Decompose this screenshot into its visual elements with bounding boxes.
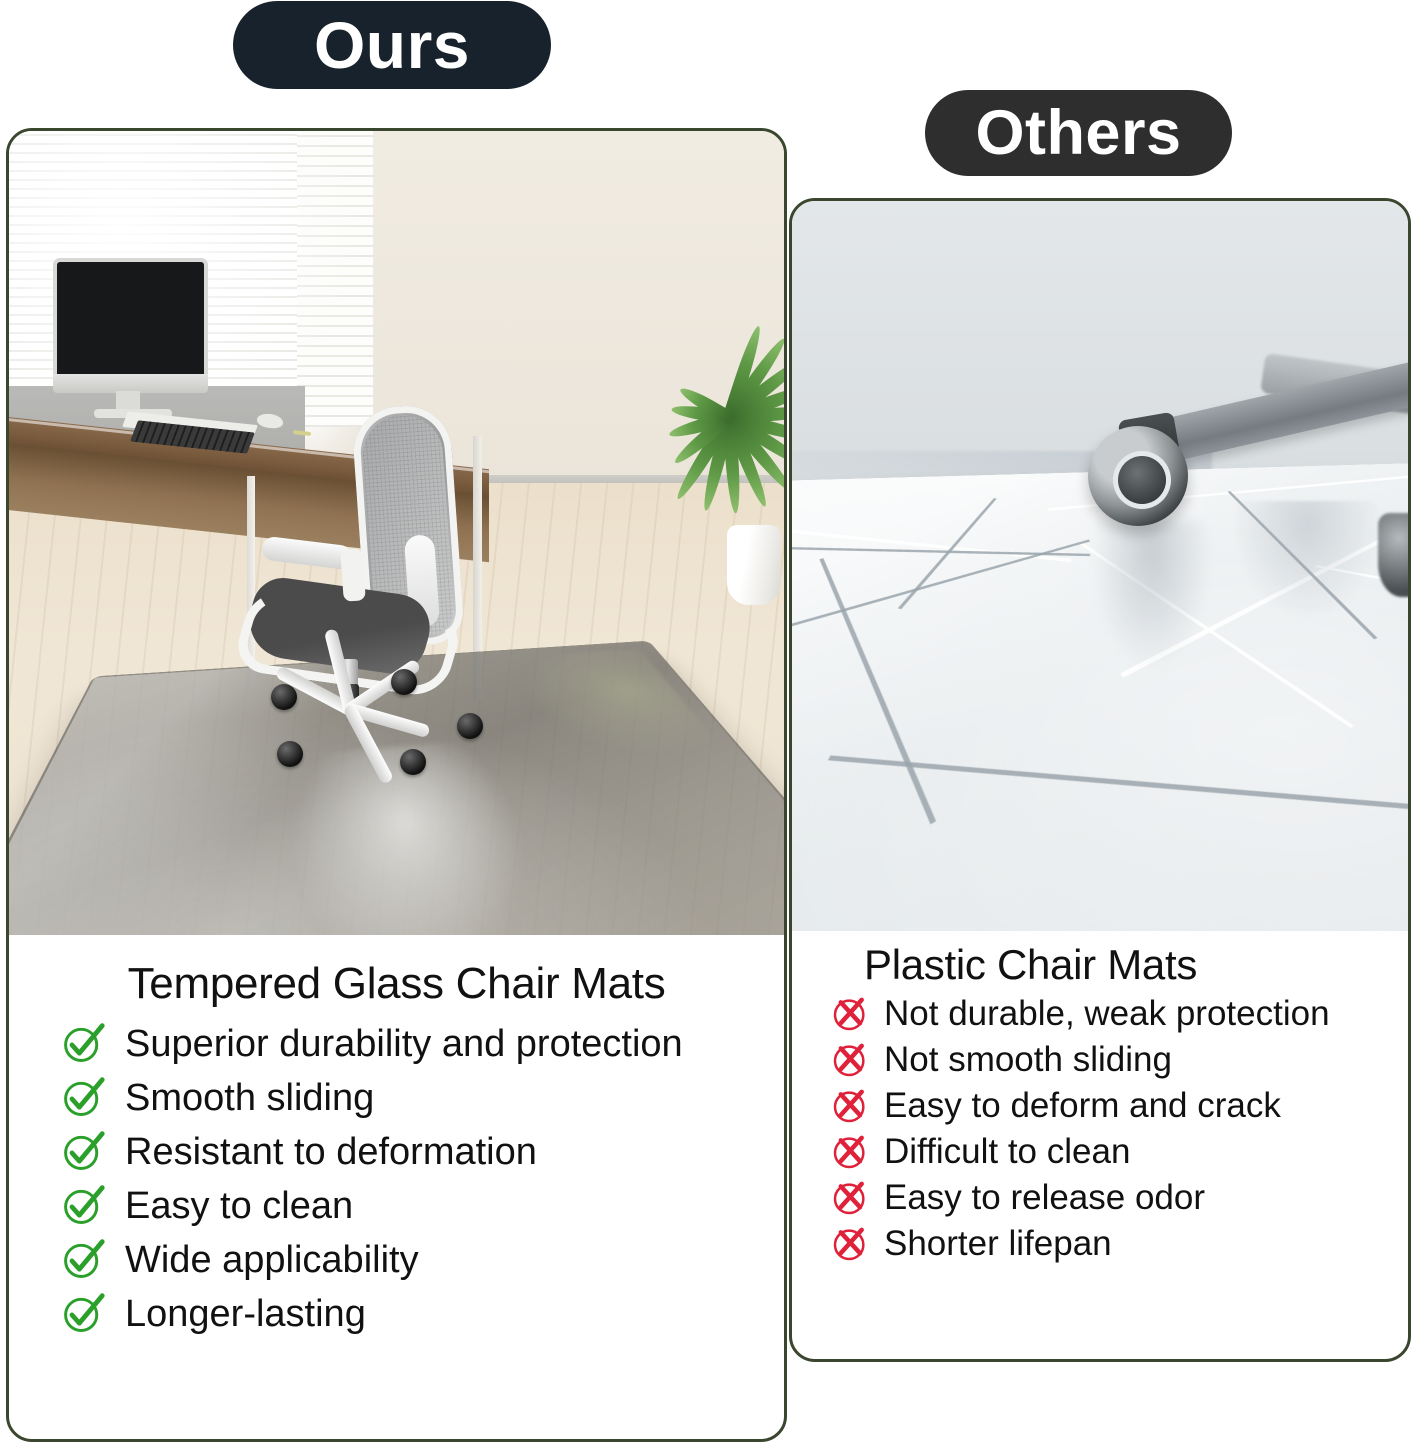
photo-tempered-glass-mat bbox=[9, 131, 784, 935]
check-circle-icon bbox=[61, 1292, 105, 1336]
x-circle-icon bbox=[830, 1178, 870, 1218]
list-item: Not smooth sliding bbox=[792, 1037, 1408, 1083]
check-circle-icon bbox=[61, 1184, 105, 1228]
badge-ours: Ours bbox=[233, 1, 551, 89]
list-item: Not durable, weak protection bbox=[792, 991, 1408, 1037]
list-item-label: Easy to clean bbox=[125, 1185, 353, 1228]
others-text-block: Plastic Chair Mats Not durable, weak pro… bbox=[792, 931, 1408, 1267]
list-item: Easy to release odor bbox=[792, 1175, 1408, 1221]
list-item: Smooth sliding bbox=[9, 1071, 784, 1125]
x-circle-icon bbox=[830, 1132, 870, 1172]
list-item: Wide applicability bbox=[9, 1233, 784, 1287]
chair-caster bbox=[400, 749, 426, 775]
list-item-label: Longer-lasting bbox=[125, 1293, 366, 1336]
photo-plastic-mat bbox=[792, 201, 1408, 931]
badge-others: Others bbox=[925, 90, 1232, 176]
check-circle-icon bbox=[61, 1130, 105, 1174]
list-item-label: Easy to release odor bbox=[884, 1178, 1205, 1218]
monitor-screen bbox=[57, 262, 204, 377]
plant-pot bbox=[727, 525, 781, 605]
list-item-label: Shorter lifepan bbox=[884, 1224, 1112, 1264]
chair-armrest-post bbox=[340, 548, 366, 601]
x-circle-icon bbox=[830, 1224, 870, 1264]
list-item-label: Easy to deform and crack bbox=[884, 1086, 1281, 1126]
list-item-label: Wide applicability bbox=[125, 1239, 419, 1282]
comparison-card-ours: Tempered Glass Chair Mats Superior durab… bbox=[6, 128, 787, 1442]
window-blinds-right bbox=[297, 131, 373, 427]
list-item-label: Difficult to clean bbox=[884, 1132, 1130, 1172]
caster-wheel-secondary bbox=[1378, 513, 1408, 597]
comparison-card-others: Plastic Chair Mats Not durable, weak pro… bbox=[789, 198, 1411, 1362]
chair-caster bbox=[457, 713, 483, 739]
list-item: Longer-lasting bbox=[9, 1287, 784, 1341]
caster-reflection bbox=[1092, 521, 1212, 671]
x-circle-icon bbox=[830, 994, 870, 1034]
list-item-label: Resistant to deformation bbox=[125, 1131, 537, 1174]
badge-others-label: Others bbox=[975, 102, 1181, 165]
ours-text-block: Tempered Glass Chair Mats Superior durab… bbox=[9, 935, 784, 1341]
x-circle-icon bbox=[830, 1086, 870, 1126]
list-item: Easy to clean bbox=[9, 1179, 784, 1233]
list-item-label: Superior durability and protection bbox=[125, 1023, 683, 1066]
list-item-label: Smooth sliding bbox=[125, 1077, 374, 1120]
caster-hub bbox=[1118, 456, 1166, 504]
x-circle-icon bbox=[830, 1040, 870, 1080]
chair-base-reflection bbox=[1232, 501, 1382, 621]
check-circle-icon bbox=[61, 1022, 105, 1066]
list-item-label: Not smooth sliding bbox=[884, 1040, 1172, 1080]
others-title: Plastic Chair Mats bbox=[792, 931, 1408, 991]
list-item: Resistant to deformation bbox=[9, 1125, 784, 1179]
list-item: Difficult to clean bbox=[792, 1129, 1408, 1175]
check-circle-icon bbox=[61, 1076, 105, 1120]
check-circle-icon bbox=[61, 1238, 105, 1282]
chair-caster bbox=[277, 741, 303, 767]
list-item-label: Not durable, weak protection bbox=[884, 994, 1330, 1034]
list-item: Shorter lifepan bbox=[792, 1221, 1408, 1267]
potted-plant-leaves bbox=[639, 281, 784, 541]
ours-title: Tempered Glass Chair Mats bbox=[9, 935, 784, 1017]
chair-caster bbox=[391, 669, 417, 695]
badge-ours-label: Ours bbox=[314, 12, 470, 78]
chair-caster bbox=[271, 684, 297, 710]
list-item: Superior durability and protection bbox=[9, 1017, 784, 1071]
list-item: Easy to deform and crack bbox=[792, 1083, 1408, 1129]
others-feature-list: Not durable, weak protection Not smooth … bbox=[792, 991, 1408, 1267]
ours-feature-list: Superior durability and protection Smoot… bbox=[9, 1017, 784, 1341]
